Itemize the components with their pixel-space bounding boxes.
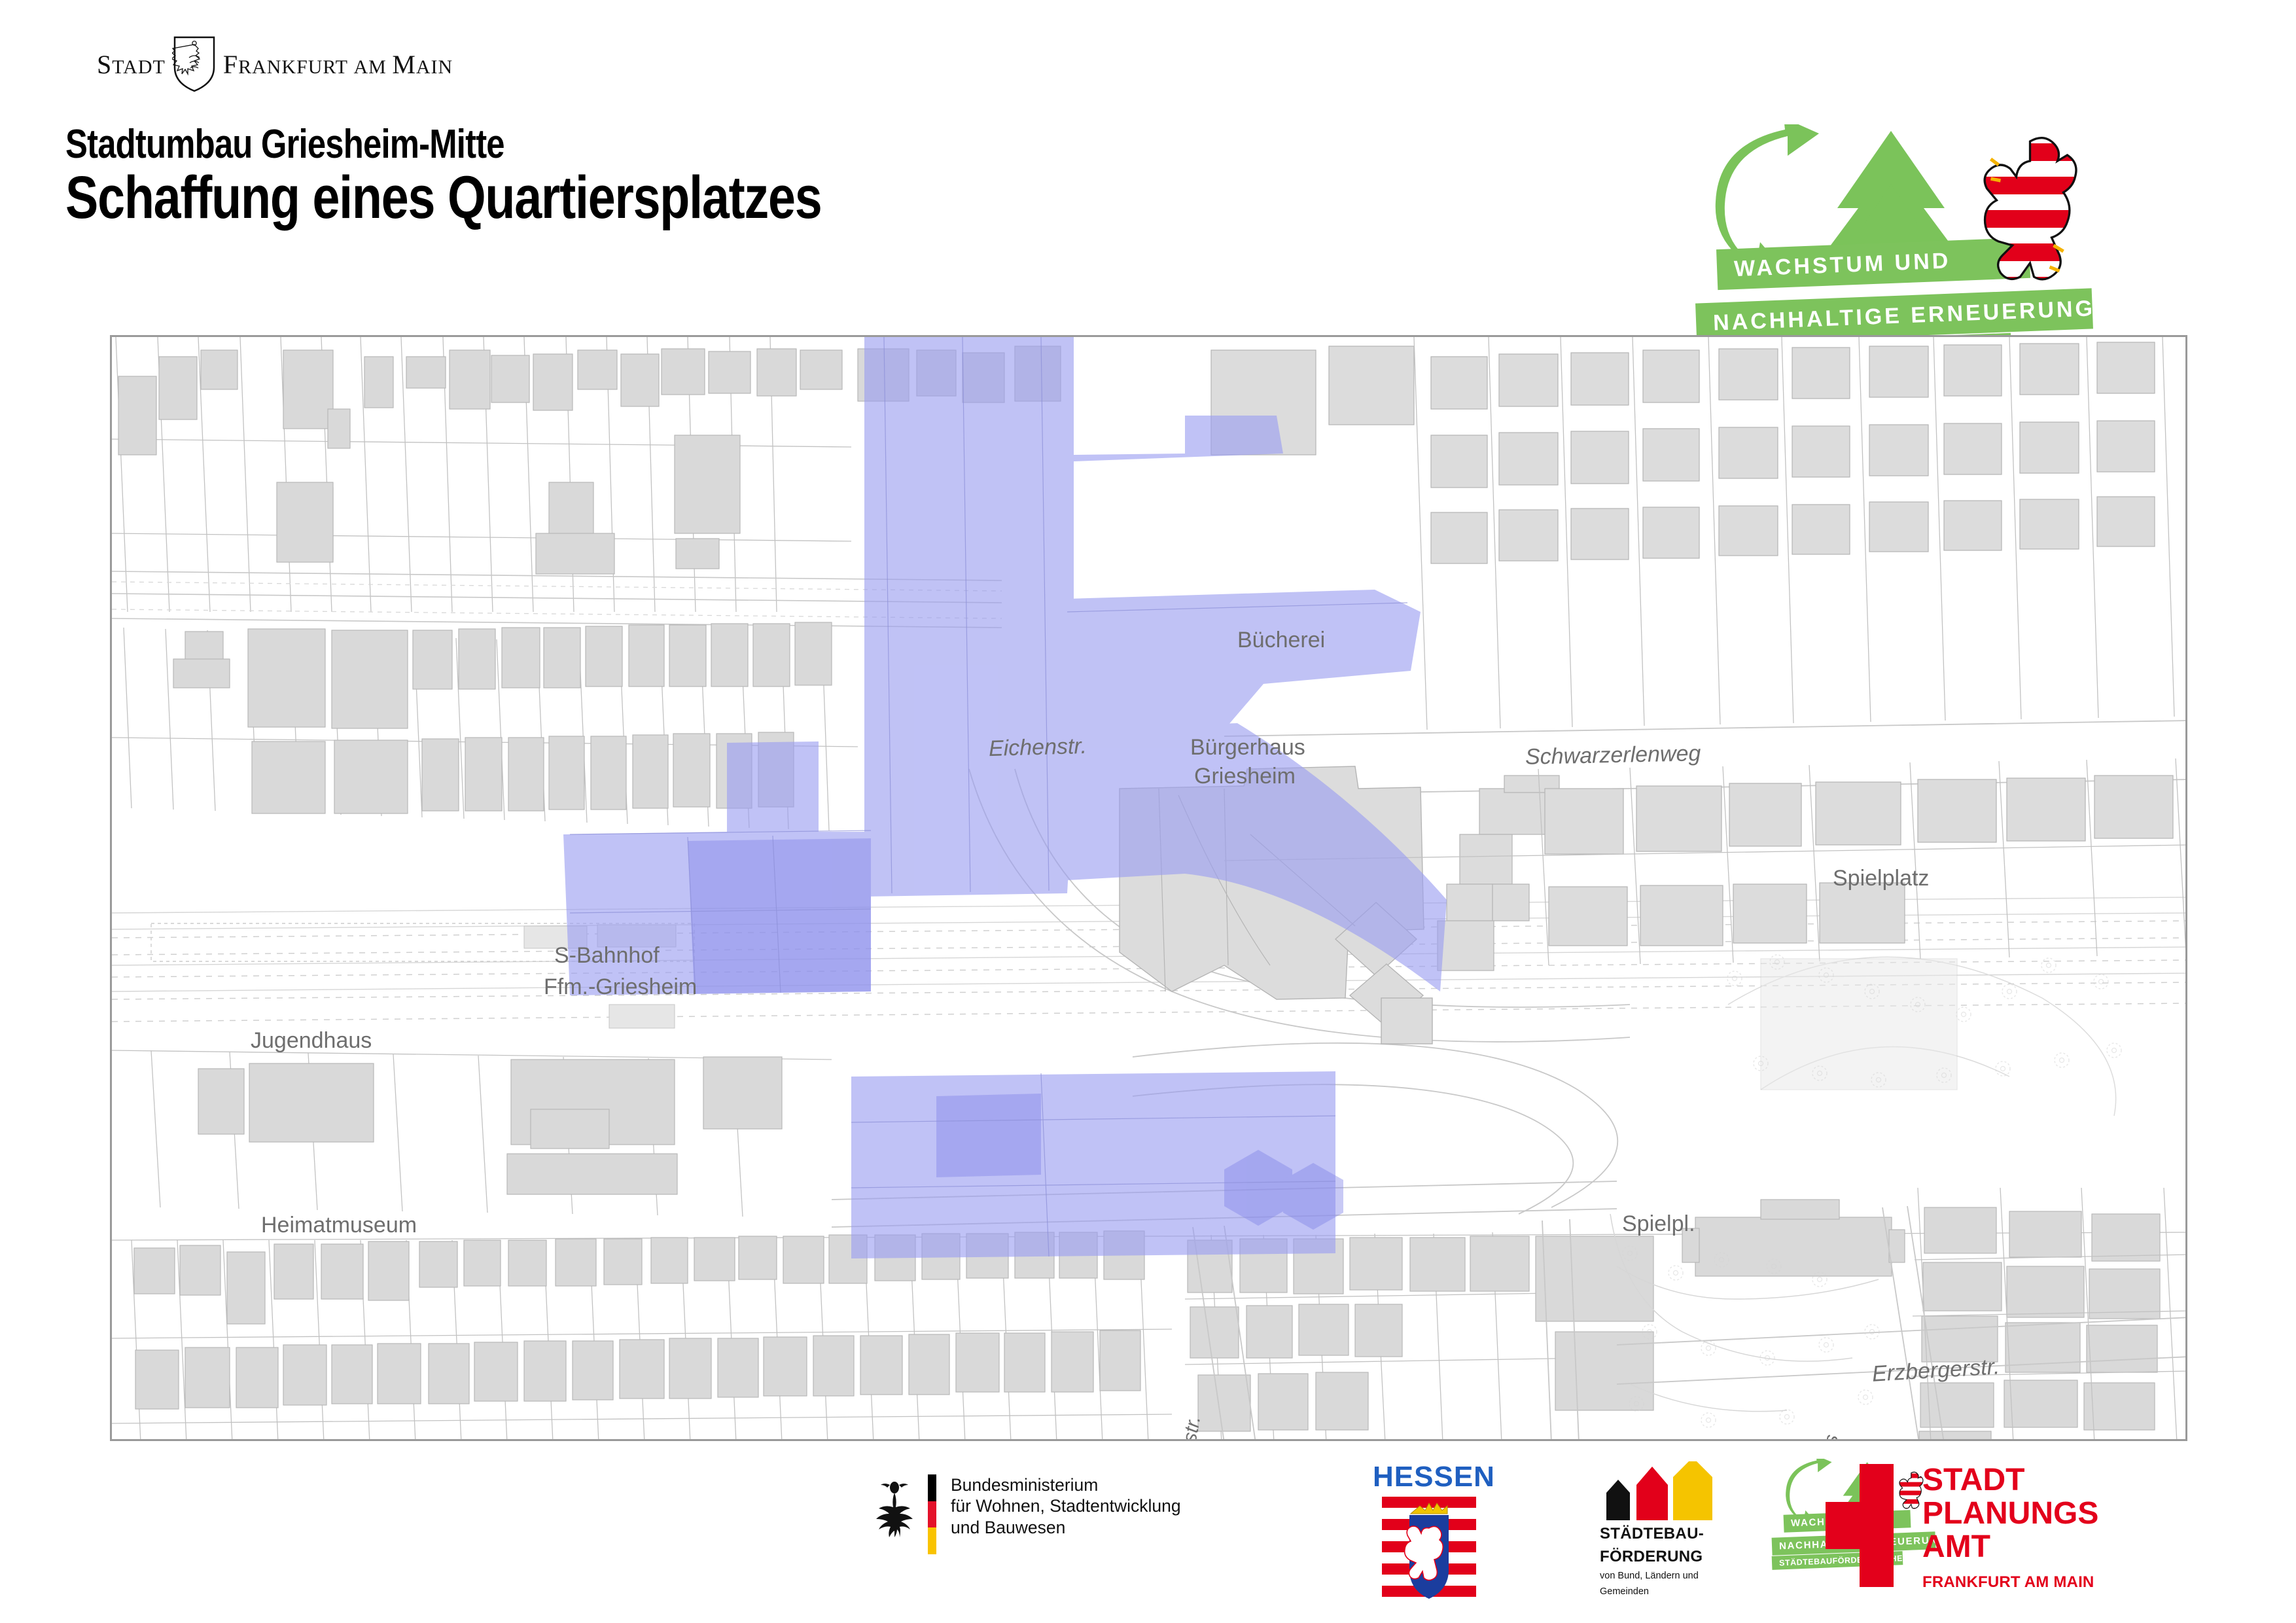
city-of-frankfurt-logo: STADT FRANKFURT AM MAIN [97, 36, 453, 92]
stadtplanungsamt-logo: STADT PLANUNGS AMT FRANKFURT AM MAIN [1826, 1464, 2098, 1592]
page-header: STADT FRANKFURT AM MAIN Stadtumbau Gries… [0, 0, 2296, 327]
page-subtitle: Stadtumbau Griesheim-Mitte [65, 121, 504, 168]
hessen-shield-icon [1373, 1497, 1485, 1605]
staedtebau-sub-2: Gemeinden [1600, 1586, 1757, 1597]
stadtplanungsamt-label: STADT PLANUNGS AMT FRANKFURT AM MAIN [1922, 1464, 2098, 1592]
bmwsb-line-3: und Bauwesen [951, 1518, 1065, 1537]
spa-line-1: STADT [1922, 1464, 2098, 1497]
city-logo-word-stadt: STADT [97, 49, 166, 80]
funding-logo-bar: Bundesministerium für Wohnen, Stadtentwi… [0, 1450, 2296, 1623]
bmwsb-label: Bundesministerium für Wohnen, Stadtentwi… [951, 1474, 1181, 1538]
bmwsb-line-1: Bundesministerium [951, 1475, 1098, 1495]
three-houses-icon [1600, 1461, 1757, 1520]
page-title: Schaffung eines Quartiersplatzes [65, 164, 821, 232]
staedtebau-sub-1: von Bund, Ländern und [1600, 1571, 1757, 1582]
bmwsb-logo: Bundesministerium für Wohnen, Stadtentwi… [870, 1474, 1181, 1554]
city-logo-word-frankfurt: FRANKFURT AM MAIN [223, 49, 453, 80]
staedtebau-line-1: STÄDTEBAU- [1600, 1525, 1757, 1543]
hessen-logo: HESSEN [1373, 1463, 1485, 1605]
spa-line-2: PLANUNGS [1922, 1497, 2098, 1531]
staedtebaufoerderung-logo: STÄDTEBAU- FÖRDERUNG von Bund, Ländern u… [1600, 1461, 1757, 1598]
frankfurt-eagle-crest-icon [172, 36, 217, 92]
hessen-wordmark: HESSEN [1373, 1463, 1485, 1491]
map-canvas [112, 337, 2185, 1439]
spa-line-4: FRANKFURT AM MAIN [1922, 1573, 2098, 1592]
hessen-lion-icon [1958, 130, 2108, 326]
staedtebau-line-2: FÖRDERUNG [1600, 1548, 1757, 1566]
stadtplanungsamt-mark-icon [1826, 1464, 1903, 1587]
bundesadler-icon [870, 1474, 919, 1537]
spa-line-3: AMT [1922, 1531, 2098, 1564]
bmwsb-line-2: für Wohnen, Stadtentwicklung [951, 1496, 1181, 1516]
german-flag-bar-icon [928, 1474, 936, 1554]
cadastral-map[interactable]: Eichenstr. Schwarzerlenweg Am Gemeindega… [110, 335, 2187, 1441]
